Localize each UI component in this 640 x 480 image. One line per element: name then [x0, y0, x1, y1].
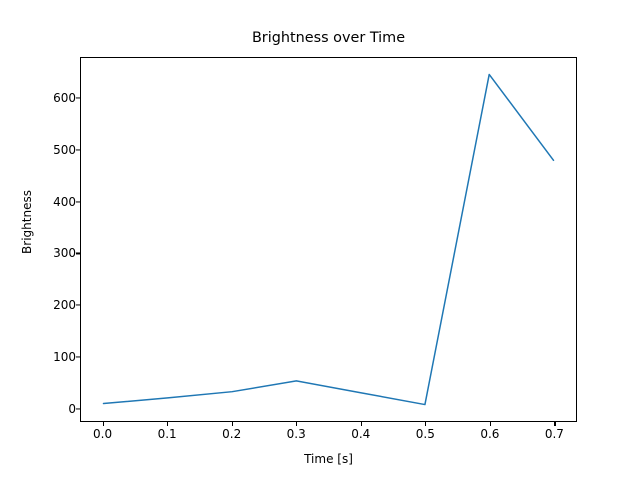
x-tick-label: 0.5 [395, 427, 455, 441]
x-axis-label: Time [s] [80, 452, 577, 466]
x-axis-tick-marks [80, 422, 577, 426]
y-tick-label: 100 [16, 350, 76, 364]
chart-title: Brightness over Time [80, 30, 577, 46]
x-tick-label: 0.6 [460, 427, 520, 441]
y-tick-label: 200 [16, 298, 76, 312]
x-tick-mark [554, 422, 555, 426]
x-tick-mark [103, 422, 104, 426]
data-line-svg [81, 58, 576, 421]
figure-canvas: Brightness over Time Brightness 01002003… [0, 0, 640, 480]
brightness-line-series [103, 74, 553, 404]
y-axis-tick-labels: 0100200300400500600 [14, 57, 76, 422]
x-tick-label: 0.3 [266, 427, 326, 441]
x-tick-mark [167, 422, 168, 426]
x-tick-mark [232, 422, 233, 426]
y-tick-label: 600 [16, 91, 76, 105]
x-tick-mark [361, 422, 362, 426]
x-tick-label: 0.4 [331, 427, 391, 441]
y-tick-label: 500 [16, 143, 76, 157]
x-tick-label: 0.0 [73, 427, 133, 441]
x-tick-mark [296, 422, 297, 426]
x-tick-label: 0.7 [524, 427, 584, 441]
x-tick-label: 0.1 [137, 427, 197, 441]
x-tick-mark [490, 422, 491, 426]
y-tick-label: 300 [16, 246, 76, 260]
y-tick-label: 0 [16, 402, 76, 416]
y-tick-label: 400 [16, 195, 76, 209]
x-tick-label: 0.2 [202, 427, 262, 441]
x-tick-mark [425, 422, 426, 426]
plot-area [80, 57, 577, 422]
x-axis-tick-labels: 0.00.10.20.30.40.50.60.7 [80, 427, 577, 445]
